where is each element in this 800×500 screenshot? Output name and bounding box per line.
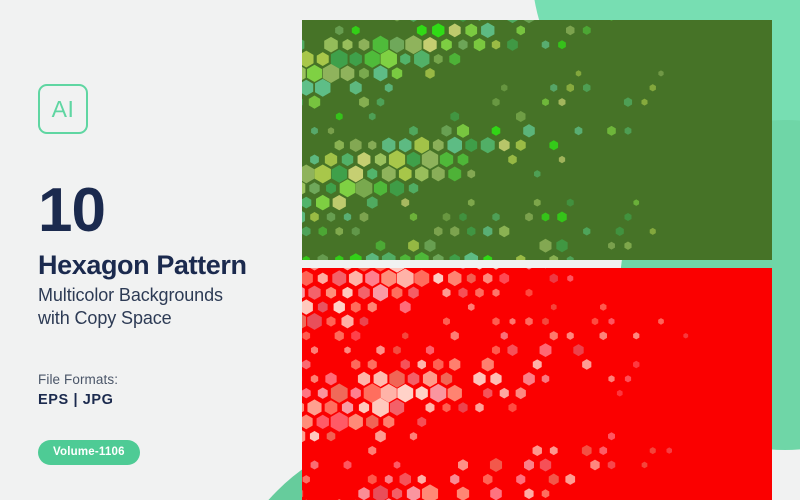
volume-badge: Volume-1106 xyxy=(38,440,140,465)
file-formats-value: EPS | JPG xyxy=(38,392,288,408)
preview-panel-red xyxy=(302,268,772,500)
page-subtitle-line-2: with Copy Space xyxy=(38,307,288,330)
file-formats-block: File Formats: EPS | JPG xyxy=(38,372,288,408)
preview-panel-green xyxy=(302,20,772,260)
red-hexagon-pattern-canvas xyxy=(302,268,772,500)
green-hexagon-pattern-canvas xyxy=(302,20,772,260)
item-count: 10 xyxy=(38,182,288,241)
ai-format-icon: AI xyxy=(38,84,88,134)
poster-canvas: AI 10 Hexagon Pattern Multicolor Backgro… xyxy=(0,0,800,500)
info-column: AI 10 Hexagon Pattern Multicolor Backgro… xyxy=(38,84,288,465)
file-formats-label: File Formats: xyxy=(38,372,288,387)
page-subtitle: Multicolor Backgrounds with Copy Space xyxy=(38,284,288,330)
page-title: Hexagon Pattern xyxy=(38,251,288,279)
page-subtitle-line-1: Multicolor Backgrounds xyxy=(38,284,288,307)
ai-format-icon-label: AI xyxy=(52,96,75,123)
